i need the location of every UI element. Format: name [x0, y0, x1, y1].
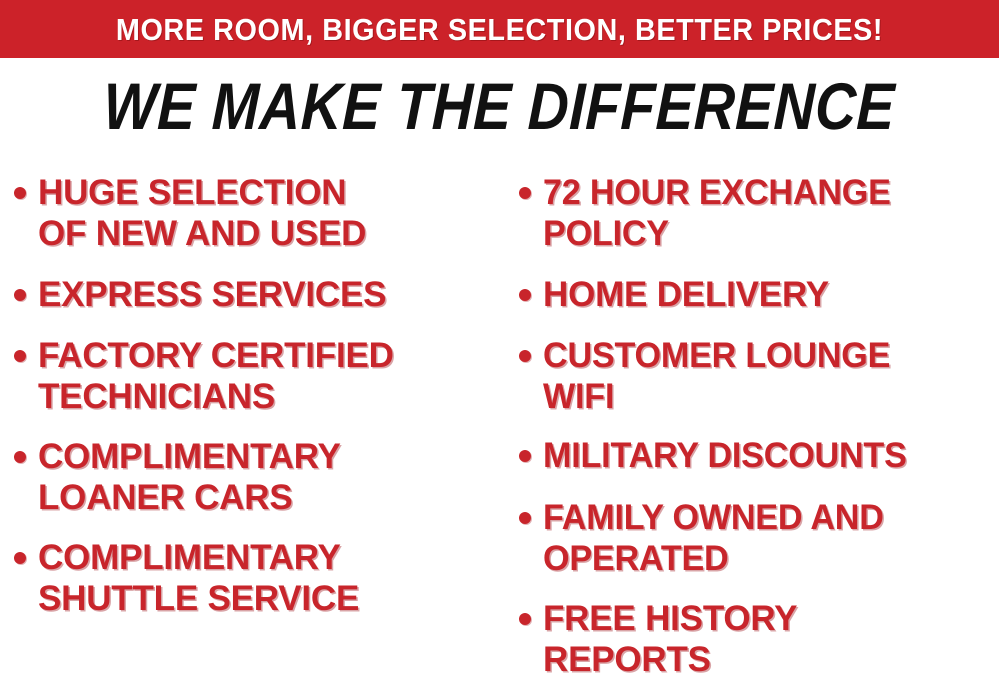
list-item-label: FREE HISTORY REPORTS	[543, 598, 999, 680]
list-item: FAMILY OWNED AND OPERATED	[519, 497, 999, 579]
list-item-label: COMPLIMENTARY LOANER CARS	[38, 436, 500, 518]
list-item: HOME DELIVERY	[519, 274, 999, 315]
list-item-label: 72 HOUR EXCHANGE POLICY	[543, 172, 988, 254]
bullet-dot-icon	[519, 450, 531, 462]
list-item: EXPRESS SERVICES	[14, 274, 500, 315]
bullet-dot-icon	[14, 552, 26, 564]
headline-text: WE MAKE THE DIFFERENCE	[103, 72, 897, 140]
list-item-label: HUGE SELECTION OF NEW AND USED	[38, 172, 500, 254]
bullet-dot-icon	[519, 350, 531, 362]
bullet-dot-icon	[14, 187, 26, 199]
list-item-label: FAMILY OWNED AND OPERATED	[543, 497, 988, 579]
headline: WE MAKE THE DIFFERENCE	[0, 72, 999, 140]
promo-banner-text: MORE ROOM, BIGGER SELECTION, BETTER PRIC…	[116, 14, 883, 45]
list-item: CUSTOMER LOUNGE WIFI	[519, 335, 999, 417]
bullet-dot-icon	[519, 187, 531, 199]
promo-banner: MORE ROOM, BIGGER SELECTION, BETTER PRIC…	[0, 0, 999, 58]
list-item-label: COMPLIMENTARY SHUTTLE SERVICE	[38, 537, 500, 619]
bullet-dot-icon	[519, 613, 531, 625]
bullet-dot-icon	[14, 289, 26, 301]
list-item-label: CUSTOMER LOUNGE WIFI	[543, 335, 988, 417]
bullet-dot-icon	[519, 289, 531, 301]
list-item-label: HOME DELIVERY	[543, 274, 999, 315]
list-item-label: EXPRESS SERVICES	[38, 274, 500, 315]
list-item: MILITARY DISCOUNTS	[519, 435, 999, 476]
list-item-label: MILITARY DISCOUNTS	[543, 435, 988, 476]
list-item: FACTORY CERTIFIED TECHNICIANS	[14, 335, 500, 417]
list-item: FREE HISTORY REPORTS	[519, 598, 999, 680]
list-item: HUGE SELECTION OF NEW AND USED	[14, 172, 500, 254]
advertisement-banner: MORE ROOM, BIGGER SELECTION, BETTER PRIC…	[0, 0, 999, 692]
list-item-label: FACTORY CERTIFIED TECHNICIANS	[38, 335, 500, 417]
feature-columns: HUGE SELECTION OF NEW AND USED EXPRESS S…	[0, 160, 999, 692]
bullet-dot-icon	[14, 350, 26, 362]
bullet-dot-icon	[14, 451, 26, 463]
bullet-dot-icon	[519, 512, 531, 524]
list-item: 72 HOUR EXCHANGE POLICY	[519, 172, 999, 254]
list-item: COMPLIMENTARY SHUTTLE SERVICE	[14, 537, 500, 619]
list-item: COMPLIMENTARY LOANER CARS	[14, 436, 500, 518]
